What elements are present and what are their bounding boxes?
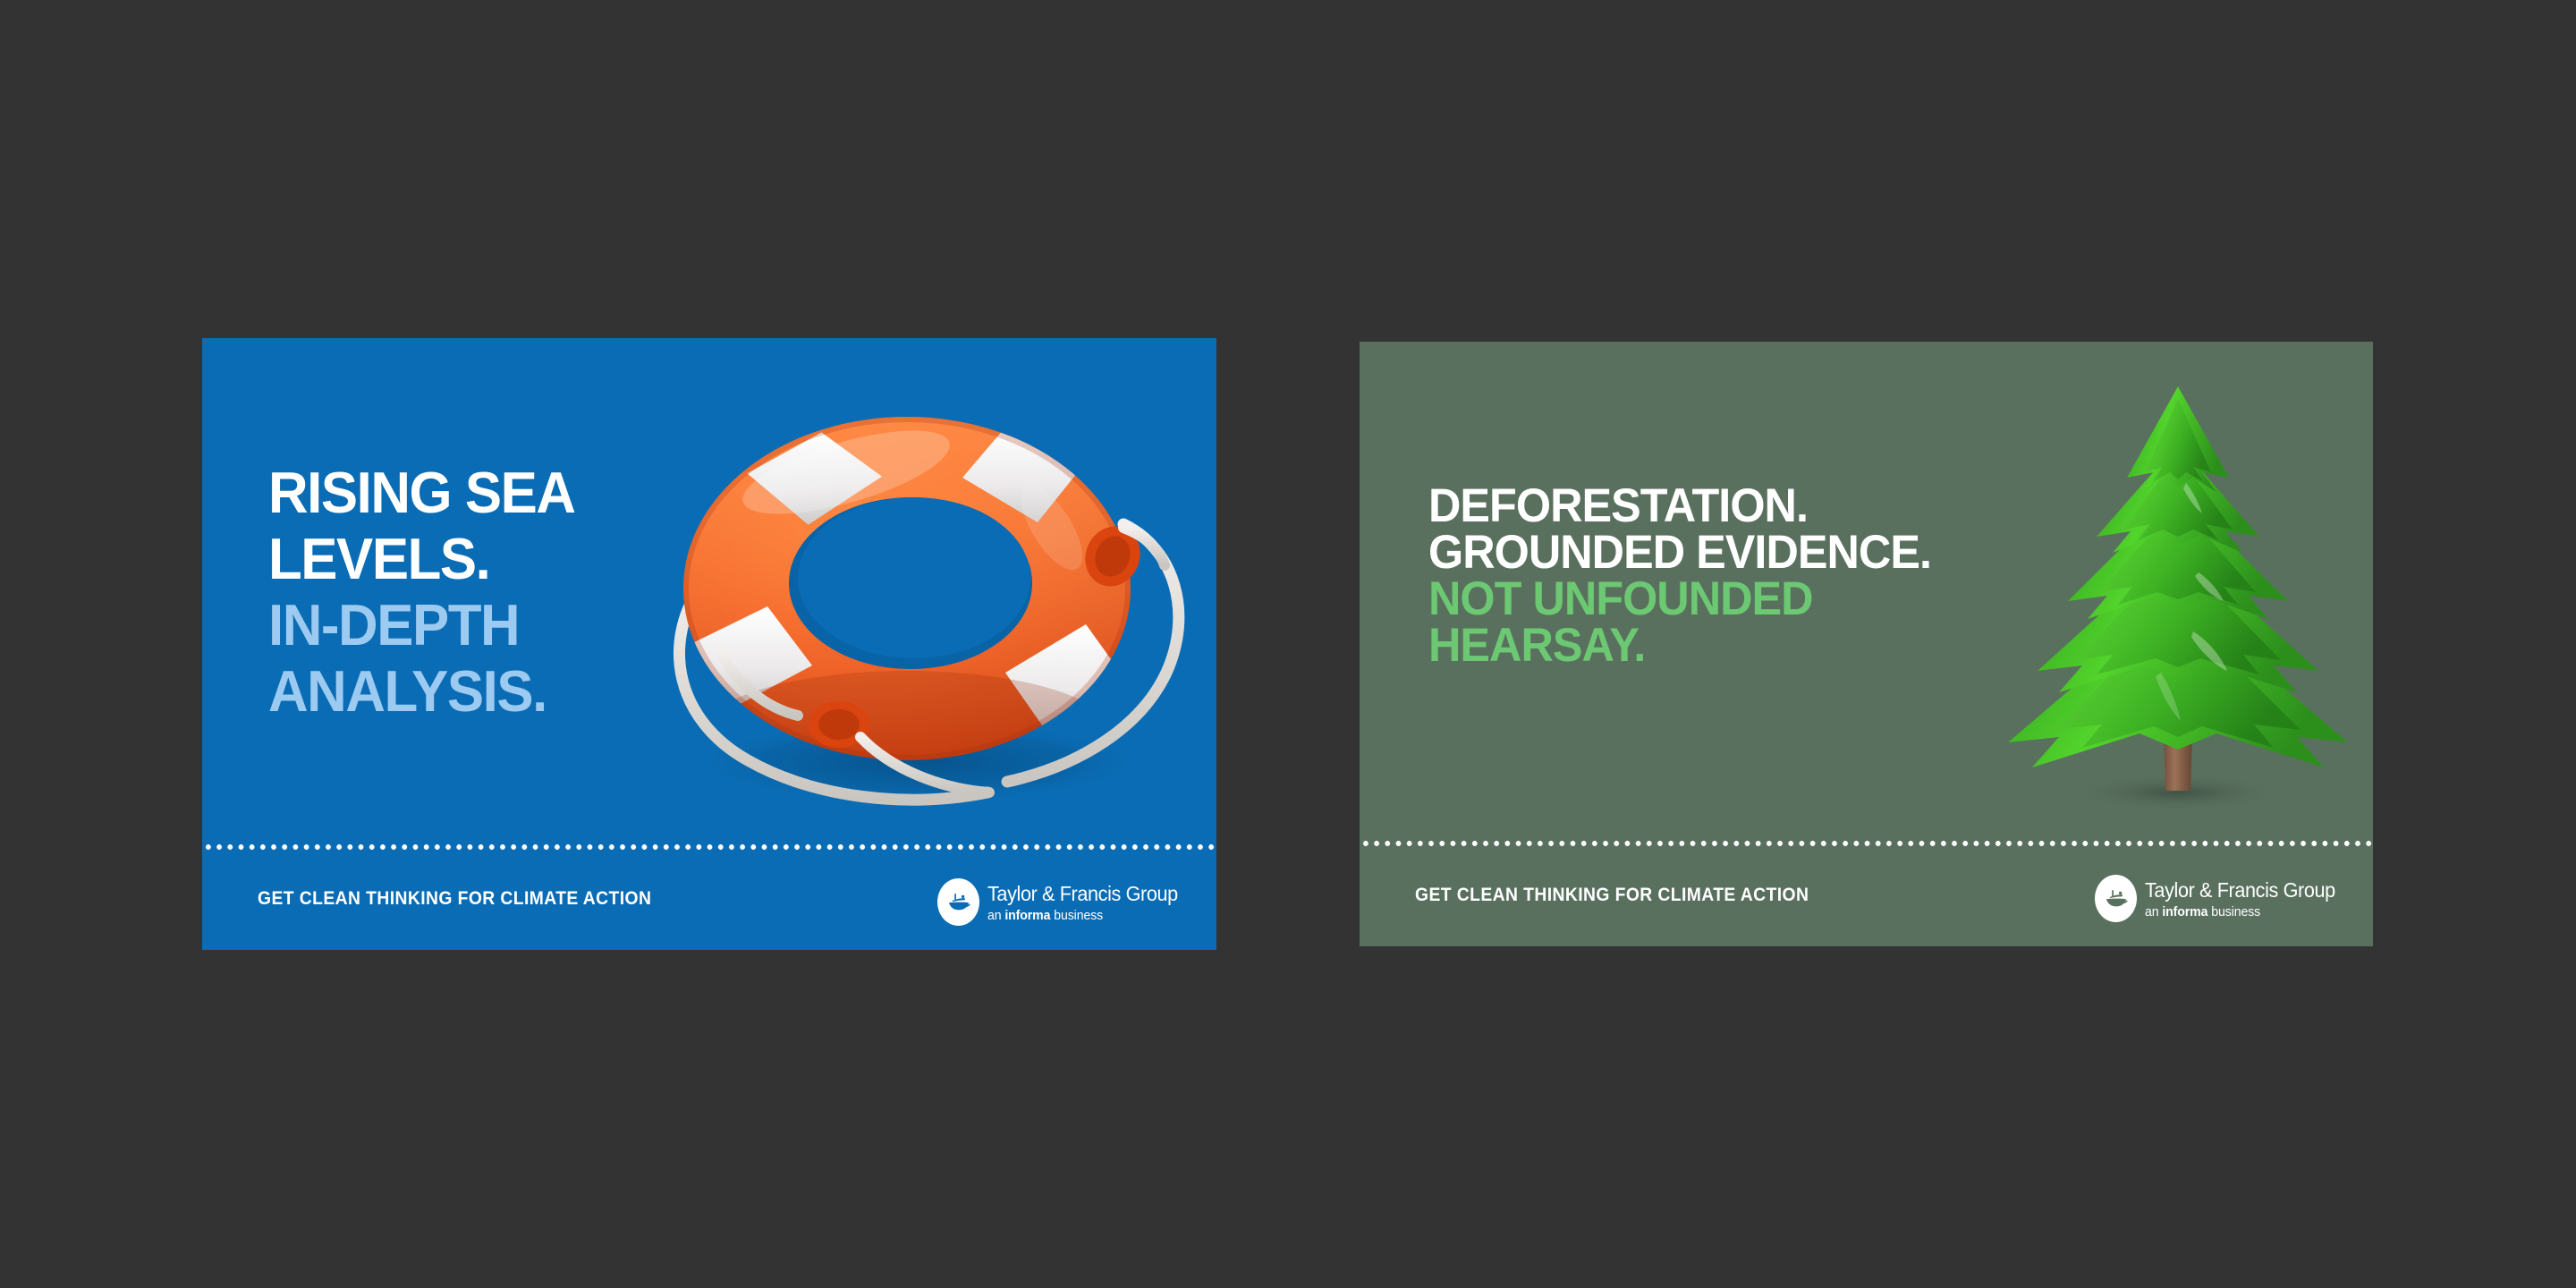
taylor-francis-logo[interactable]: Taylor & Francis Group an informa busine…	[2095, 875, 2347, 922]
banner-footer-sea: GET CLEAN THINKING FOR CLIMATE ACTION	[202, 862, 1216, 950]
logo-name: Taylor & Francis Group	[987, 884, 1178, 904]
dotted-divider	[202, 844, 1216, 850]
headline-line-4: ANALYSIS.	[268, 658, 575, 724]
taylor-francis-wordmark: Taylor & Francis Group an informa busine…	[2145, 878, 2347, 919]
headline-line-1: DEFORESTATION.	[1428, 483, 1931, 530]
pine-tree-illustration	[1986, 358, 2370, 823]
taylor-francis-logo[interactable]: Taylor & Francis Group an informa busine…	[937, 878, 1190, 926]
headline-line-3: NOT UNFOUNDED	[1428, 576, 1931, 623]
taylor-francis-roundel-icon	[2095, 875, 2137, 922]
footer-tagline: GET CLEAN THINKING FOR CLIMATE ACTION	[1415, 885, 1809, 906]
dotted-divider	[1360, 841, 2373, 846]
banner-headline-forest: DEFORESTATION. GROUNDED EVIDENCE. NOT UN…	[1428, 483, 1931, 669]
headline-line-4: HEARSAY.	[1428, 623, 1931, 669]
logo-name: Taylor & Francis Group	[2145, 880, 2335, 901]
footer-tagline: GET CLEAN THINKING FOR CLIMATE ACTION	[258, 888, 651, 910]
taylor-francis-roundel-icon	[937, 878, 979, 926]
headline-line-3: IN-DEPTH	[268, 592, 575, 658]
logo-subline: an informa business	[987, 909, 1178, 922]
taylor-francis-wordmark: Taylor & Francis Group an informa busine…	[987, 882, 1190, 922]
poster-canvas: RISING SEA LEVELS. IN-DEPTH ANALYSIS. GE…	[0, 0, 2576, 1288]
banner-headline-sea: RISING SEA LEVELS. IN-DEPTH ANALYSIS.	[268, 460, 575, 724]
headline-line-2: LEVELS.	[268, 526, 575, 592]
lifebuoy-illustration	[623, 358, 1195, 832]
banner-footer-forest: GET CLEAN THINKING FOR CLIMATE ACTION	[1360, 859, 2373, 946]
logo-subline: an informa business	[2145, 905, 2335, 919]
headline-line-1: RISING SEA	[268, 460, 575, 526]
banner-deforestation: DEFORESTATION. GROUNDED EVIDENCE. NOT UN…	[1360, 342, 2373, 946]
headline-line-2: GROUNDED EVIDENCE.	[1428, 530, 1931, 576]
banner-rising-sea-levels: RISING SEA LEVELS. IN-DEPTH ANALYSIS. GE…	[202, 338, 1216, 950]
